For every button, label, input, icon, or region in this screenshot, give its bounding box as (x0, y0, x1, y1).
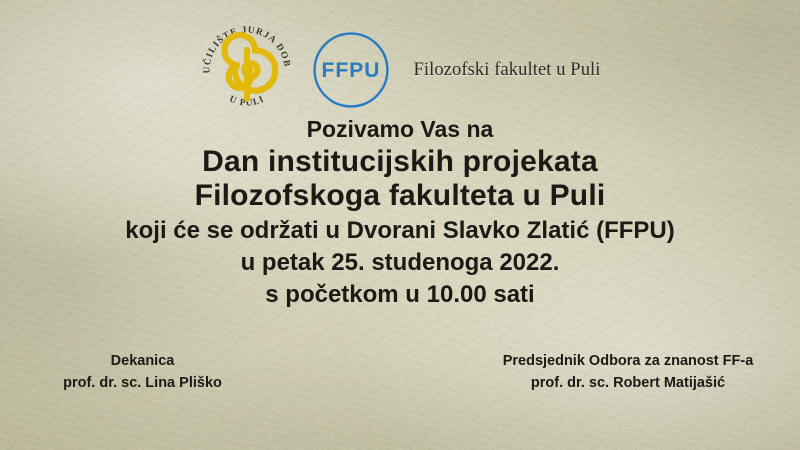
signature-left: Dekanica prof. dr. sc. Lina Pliško (30, 350, 255, 395)
signature-left-role: Dekanica (30, 350, 255, 372)
invitation-poster: SVEUČILIŠTE JURJA DOBRILE U PULI FFPU Fi… (0, 0, 800, 450)
invitation-text-block: Pozivamo Vas na Dan institucijskih proje… (0, 118, 800, 307)
event-date-line: u petak 25. studenoga 2022. (0, 251, 800, 283)
event-venue-line: koji će se održati u Dvorani Slavko Zlat… (0, 219, 800, 251)
signature-right-role: Predsjednik Odbora za znanost FF-a (478, 350, 778, 372)
signature-right-person: prof. dr. sc. Robert Matijašić (478, 372, 778, 394)
svg-text:FFPU: FFPU (322, 59, 381, 82)
event-title-line-1: Dan institucijskih projekata (0, 147, 800, 181)
invitation-intro-line: Pozivamo Vas na (0, 118, 800, 147)
faculty-name-label: Filozofski fakultet u Puli (413, 60, 600, 81)
signature-left-person: prof. dr. sc. Lina Pliško (30, 372, 255, 394)
poster-header: SVEUČILIŠTE JURJA DOBRILE U PULI FFPU Fi… (0, 22, 800, 118)
event-title-line-2: Filozofskoga fakulteta u Puli (0, 181, 800, 219)
ffpu-circle-logo: FFPU (309, 28, 393, 112)
signature-right: Predsjednik Odbora za znanost FF-a prof.… (478, 350, 778, 395)
spiral-logo: SVEUČILIŠTE JURJA DOBRILE U PULI (199, 22, 295, 118)
event-time-line: s početkom u 10.00 sati (0, 283, 800, 307)
